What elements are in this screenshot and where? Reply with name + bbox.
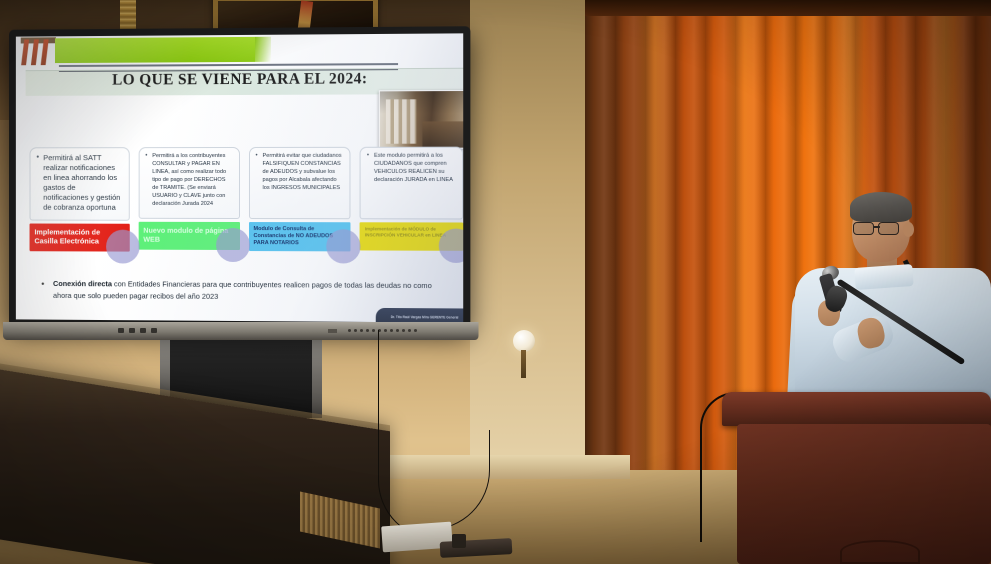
decorative-circle <box>327 230 361 264</box>
card-inscripcion-vehicular: Este modulo permitirá a los CIUDADANOS q… <box>360 147 463 251</box>
tv-brand-logo <box>328 329 337 333</box>
wall-light-icon <box>513 330 535 352</box>
decorative-circle <box>439 229 463 263</box>
plug <box>452 534 466 548</box>
card-casilla-electronica: Permitirá al SATT realizar notificacione… <box>30 147 130 251</box>
card-body: Permitirá al SATT realizar notificacione… <box>30 147 130 220</box>
speaker-collar <box>854 264 913 290</box>
satt-logo-icon <box>23 39 47 65</box>
tv-menu-button[interactable] <box>129 328 135 333</box>
card-body: Permitirá a los contribuyentes CONSULTAR… <box>138 147 239 219</box>
hall-interior-photo <box>379 90 463 149</box>
tv-control-buttons[interactable] <box>118 328 157 333</box>
card-row: Permitirá al SATT realizar notificacione… <box>30 147 464 253</box>
card-text: Permitirá a los contribuyentes CONSULTAR… <box>145 153 232 209</box>
presentation-room-photo: LO QUE SE VIENE PARA EL 2024: Permitirá … <box>0 0 991 564</box>
decorative-circle <box>216 228 250 262</box>
tv-power-button[interactable] <box>118 328 124 333</box>
logo-green-band-tail <box>255 37 271 62</box>
bottom-bullet: Conexión directa con Entidades Financier… <box>41 278 451 304</box>
card-text: Permitirá evitar que ciudadanos FALSIFIQ… <box>255 153 343 193</box>
card-text: Este modulo permitirá a los CIUDADANOS q… <box>367 153 456 185</box>
presenter-signature: Dr. Tito Raúl Vargas Mira GERENTE Genera… <box>376 308 463 323</box>
bottom-bullet-strong: Conexión directa <box>53 279 112 288</box>
card-text: Permitirá al SATT realizar notificacione… <box>36 153 122 213</box>
tv-volume-down-button[interactable] <box>151 328 157 333</box>
curtain-rail <box>585 0 991 16</box>
logo-green-band <box>55 37 261 63</box>
wall-light-stem <box>521 350 526 378</box>
presentation-display[interactable]: LO QUE SE VIENE PARA EL 2024: Permitirá … <box>9 26 470 330</box>
title-rule-top <box>59 63 398 66</box>
podium-emblem <box>840 540 920 564</box>
card-pagina-web: Permitirá a los contribuyentes CONSULTAR… <box>138 147 239 250</box>
podium-top <box>722 392 991 426</box>
tv-stand-edge-right <box>312 340 322 418</box>
decorative-circle <box>106 229 140 263</box>
glasses-icon <box>853 222 907 235</box>
tv-volume-up-button[interactable] <box>140 328 146 333</box>
speaker-hair <box>850 192 912 222</box>
slide-content: LO QUE SE VIENE PARA EL 2024: Permitirá … <box>16 33 463 322</box>
card-constancias-notarios: Permitirá evitar que ciudadanos FALSIFIQ… <box>248 147 350 252</box>
card-body: Este modulo permitirá a los CIUDADANOS q… <box>360 147 463 220</box>
card-body: Permitirá evitar que ciudadanos FALSIFIQ… <box>248 147 350 219</box>
slide-title: LO QUE SE VIENE PARA EL 2024: <box>16 70 463 90</box>
